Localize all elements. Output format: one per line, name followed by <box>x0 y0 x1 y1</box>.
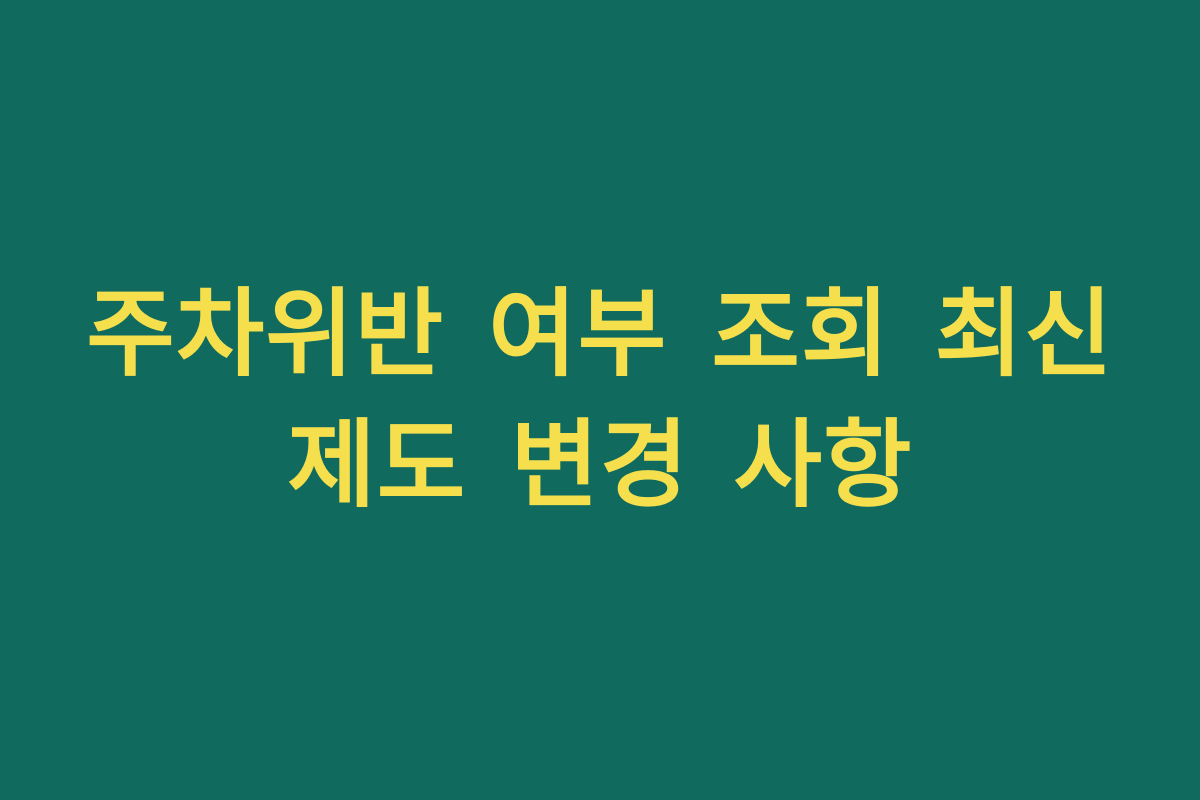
title-line-1: 주차위반 여부 조회 최신 <box>40 269 1160 400</box>
title-banner: 주차위반 여부 조회 최신 제도 변경 사항 <box>0 0 1200 800</box>
title-line-2: 제도 변경 사항 <box>40 400 1160 531</box>
page-title: 주차위반 여부 조회 최신 제도 변경 사항 <box>0 269 1200 530</box>
